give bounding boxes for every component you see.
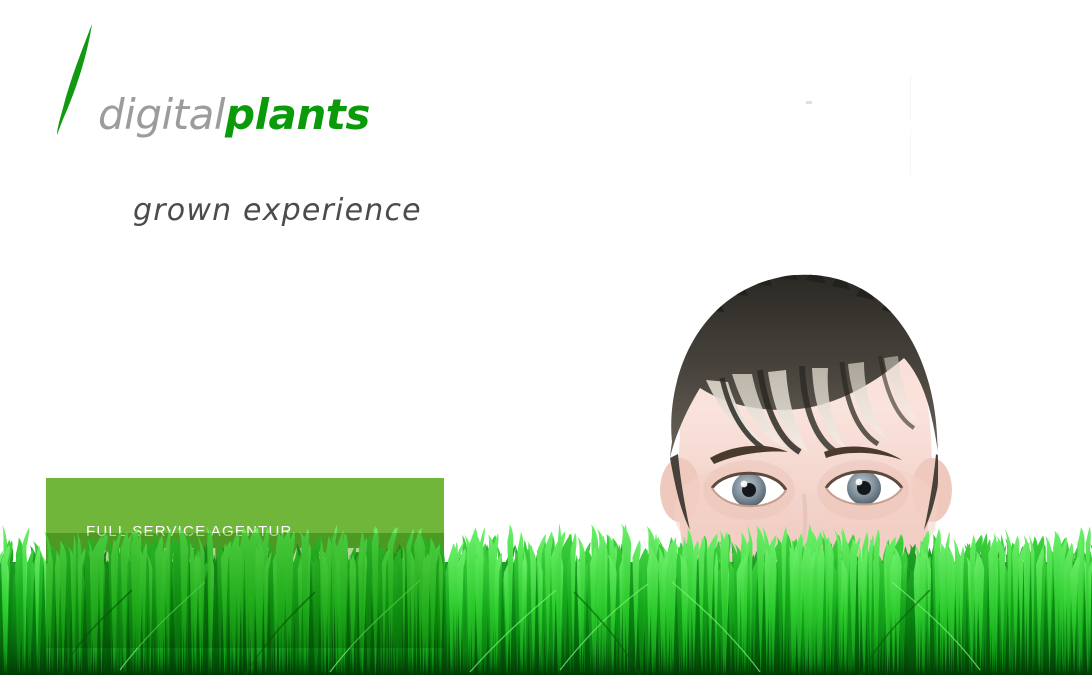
background-artifact <box>910 75 911 120</box>
background-artifact <box>910 130 911 175</box>
hero-banner: digitalplants grown experience <box>0 0 1092 675</box>
tagline: grown experience <box>133 193 422 228</box>
panel-grass-blend <box>46 533 444 648</box>
background-artifact <box>806 101 812 104</box>
woman-face-image <box>636 262 976 562</box>
green-leaf-blade-icon <box>46 22 106 137</box>
logo-word-digital: digital <box>98 90 225 139</box>
site-logo[interactable]: digitalplants <box>46 22 346 142</box>
logo-wordmark: digitalplants <box>98 94 370 136</box>
logo-word-plants: plants <box>225 90 370 139</box>
